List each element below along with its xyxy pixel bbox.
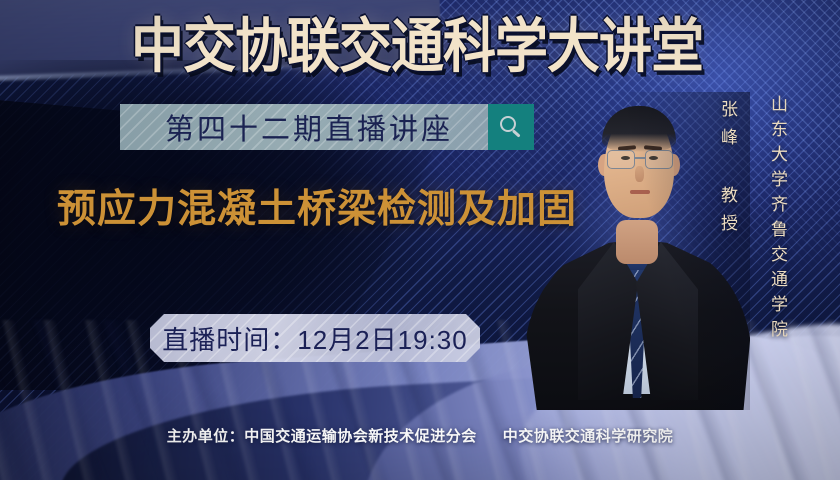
organizer-footer: 主办单位：中国交通运输协会新技术促进分会中交协联交通科学研究院 <box>0 425 840 446</box>
episode-label: 第四十二期直播讲座 <box>155 106 453 148</box>
eyeglass-lens-right <box>645 150 673 169</box>
episode-banner: 第四十二期直播讲座 <box>120 104 534 150</box>
eyeglass-bridge <box>635 157 645 159</box>
organizer-name-1: 中国交通运输协会新技术促进分会 <box>244 428 477 445</box>
live-lecture-poster: 中交协联交通科学大讲堂 第四十二期直播讲座 预应力混凝土桥梁检测及加固 直播时间… <box>0 0 840 480</box>
poster-title: 中交协联交通科学大讲堂 <box>131 17 703 76</box>
speaker-organization: 山东大学齐鲁交通学院 <box>765 95 790 345</box>
portrait-neck <box>616 220 658 264</box>
eyeglass-lens-left <box>607 150 635 169</box>
organizer-prefix: 主办单位： <box>167 428 245 445</box>
search-icon-handle <box>512 129 521 137</box>
search-icon <box>500 116 522 138</box>
broadcast-time-label: 直播时间：12月2日19:30 <box>162 320 467 357</box>
portrait-mouth <box>630 190 650 194</box>
search-icon-tile[interactable] <box>488 104 534 150</box>
portrait-nose <box>635 166 644 182</box>
broadcast-time-pill: 直播时间：12月2日19:30 <box>150 314 480 362</box>
organizer-name-2: 中交协联交通科学研究院 <box>503 428 674 445</box>
speaker-name: 张峰 教授 <box>715 100 740 242</box>
episode-banner-fill: 第四十二期直播讲座 <box>120 104 488 150</box>
lecture-topic: 预应力混凝土桥梁检测及加固 <box>57 190 577 229</box>
